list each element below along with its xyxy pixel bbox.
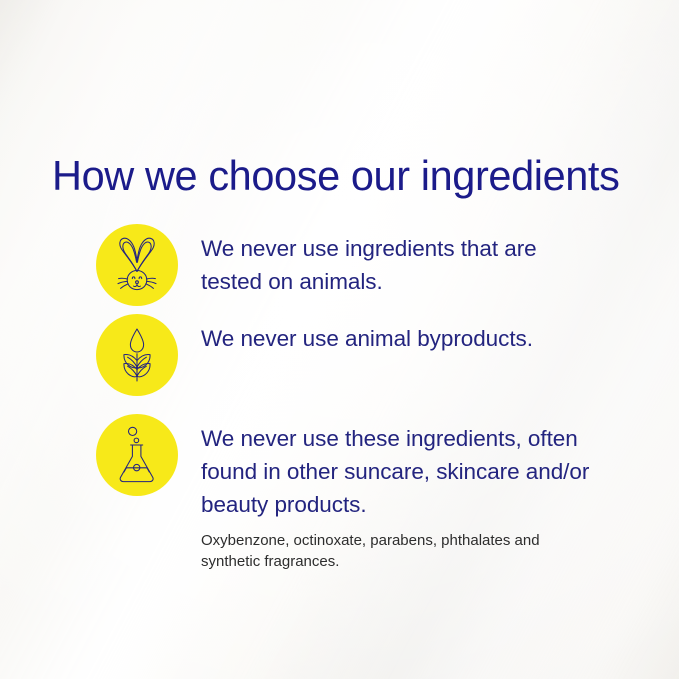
icon-badge-no-harsh-chemicals xyxy=(96,414,178,496)
list-item-headline: We never use these ingredients, often fo… xyxy=(201,422,601,521)
list-item: We never use animal byproducts. xyxy=(0,314,679,396)
list-item-text: We never use animal byproducts. xyxy=(201,314,679,355)
icon-badge-plant-based xyxy=(96,314,178,396)
page-title: How we choose our ingredients xyxy=(52,150,652,202)
list-item-text: We never use these ingredients, often fo… xyxy=(201,414,679,572)
list-item-subtext: Oxybenzone, octinoxate, parabens, phthal… xyxy=(201,530,561,572)
flask-bubbles-icon xyxy=(113,426,161,484)
list-item: We never use ingredients that are tested… xyxy=(0,224,679,306)
list-item-headline: We never use ingredients that are tested… xyxy=(201,232,601,298)
list-item-headline: We never use animal byproducts. xyxy=(201,322,621,355)
plant-sprig-leaf-icon xyxy=(115,327,159,383)
content-layer: How we choose our ingredients xyxy=(0,0,679,679)
benefits-list: We never use ingredients that are tested… xyxy=(0,224,679,572)
list-item: We never use these ingredients, often fo… xyxy=(0,414,679,572)
infographic-page: How we choose our ingredients xyxy=(0,0,679,679)
icon-badge-cruelty-free xyxy=(96,224,178,306)
list-item-text: We never use ingredients that are tested… xyxy=(201,224,679,298)
bunny-heart-ears-icon xyxy=(110,236,164,294)
